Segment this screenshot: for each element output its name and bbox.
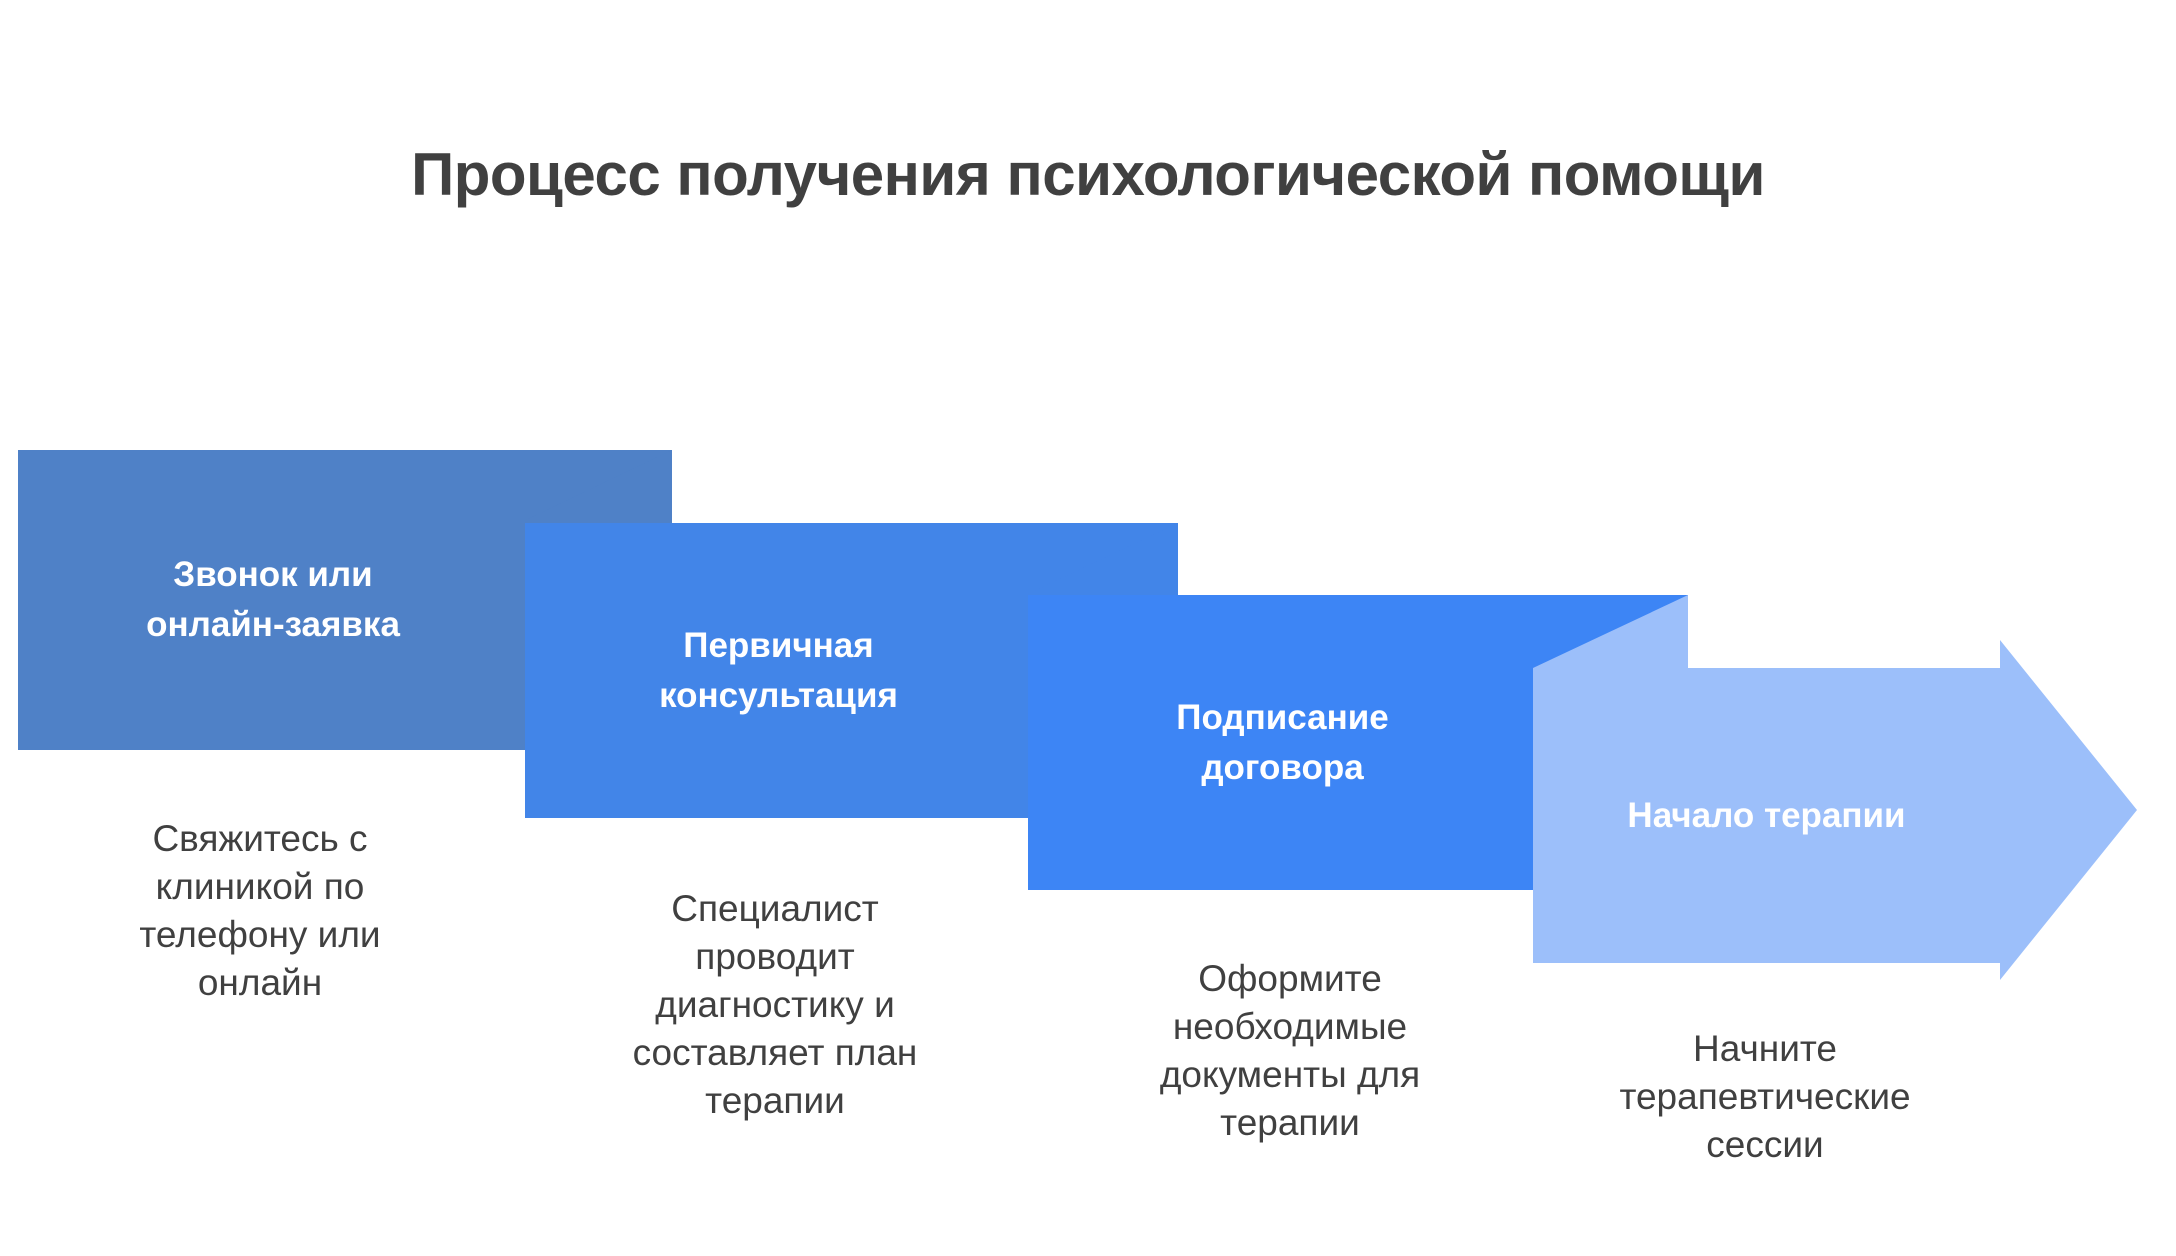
step-4-fold-tab	[1533, 595, 1688, 668]
process-flow-diagram: Звонок или онлайн-заявка Свяжитесь с кли…	[0, 0, 2176, 1256]
slide-canvas: Процесс получения психологической помощи…	[0, 0, 2176, 1256]
step-4-description: Начните терапевтические сессии	[1565, 1025, 1965, 1169]
step-4-arrow-body	[1533, 640, 2137, 980]
